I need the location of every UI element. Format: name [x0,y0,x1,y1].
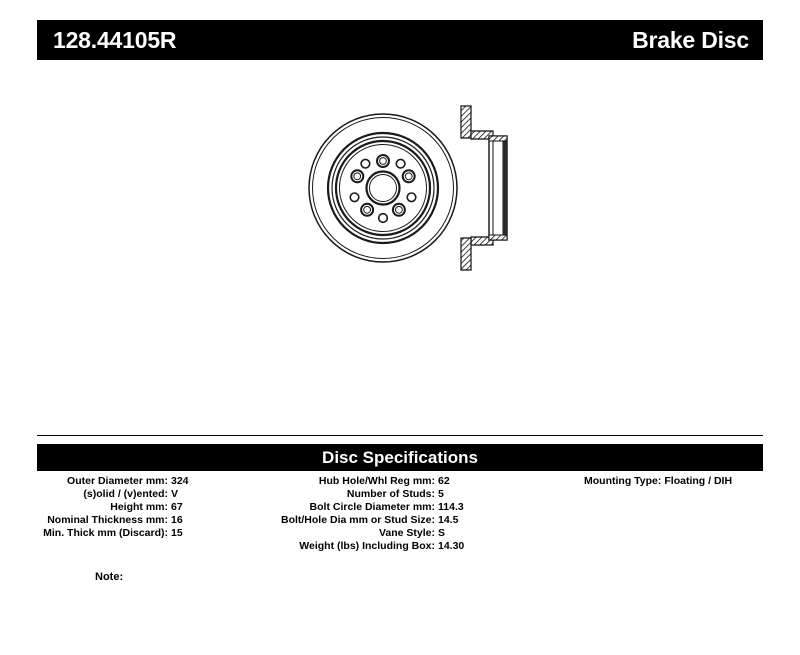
pilot-hole [379,214,388,223]
stud-hole [351,170,363,182]
pilot-hole [361,159,370,168]
spec-row-solid-vented: (s)olid / (v)ented:V [0,488,200,501]
spec-value: 14.30 [435,540,464,553]
spec-label: Height mm: [0,501,168,514]
spec-row-min-thickness-discard: Min. Thick mm (Discard):15 [0,527,200,540]
product-drawing [250,95,550,295]
spec-value: 15 [168,527,183,540]
rotor-friction-ring-inner [332,137,434,239]
specifications-divider-rule [37,435,763,436]
part-number: 128.44105R [53,29,176,52]
header-bar: 128.44105R Brake Disc [37,20,763,60]
spec-label: Nominal Thickness mm: [0,514,168,527]
spec-row-vane-style: Vane Style:S [250,527,510,540]
note-block: Note: [95,570,127,584]
stud-hole [377,155,389,167]
disc-outer-surface-edge [503,136,507,240]
note-value [123,571,127,583]
disc-body-cap-top [489,136,507,141]
spec-value: 5 [435,488,444,501]
spec-row-outer-diameter: Outer Diameter mm:324 [0,475,200,488]
brake-disc-technical-illustration [250,95,550,295]
specifications-column-middle: Hub Hole/Whl Reg mm:62 Number of Studs:5… [250,475,510,553]
spec-label: Bolt/Hole Dia mm or Stud Size: [250,514,435,527]
spec-value: 114.3 [435,501,464,514]
spec-value: 62 [435,475,450,488]
rotor-side-section-view [461,106,507,270]
spec-value: 16 [168,514,183,527]
rotor-outer-edge-circle [309,114,457,262]
spec-value: V [168,488,178,501]
spec-label: Hub Hole/Whl Reg mm: [250,475,435,488]
stud-hole-inner [405,173,412,180]
spec-value: 14.5 [435,514,458,527]
spec-row-number-of-studs: Number of Studs:5 [250,488,510,501]
stud-hole-inner [380,158,387,165]
spec-row-bolt-hole-dia-stud-size: Bolt/Hole Dia mm or Stud Size:14.5 [250,514,510,527]
spec-value: S [435,527,445,540]
spec-label: Min. Thick mm (Discard): [0,527,168,540]
spec-row-nominal-thickness: Nominal Thickness mm:16 [0,514,200,527]
pilot-hole [396,159,405,168]
stud-hole-inner [354,173,361,180]
rotor-front-view [309,114,457,262]
stud-hole-inner [364,206,371,213]
hat-flange-upper [461,106,471,138]
pilot-hole [350,193,359,202]
hub-bore-inner-circle [370,175,397,202]
spec-value: 67 [168,501,183,514]
hub-bore-circle [367,172,400,205]
specifications-header-title: Disc Specifications [322,449,478,466]
specifications-column-left: Outer Diameter mm:324 (s)olid / (v)ented… [0,475,200,540]
specifications-column-right: Mounting Type:Floating / DIH [584,475,794,488]
spec-label: Bolt Circle Diameter mm: [250,501,435,514]
spec-value: 324 [168,475,189,488]
spec-row-weight-including-box: Weight (lbs) Including Box:14.30 [250,540,510,553]
pilot-hole [407,193,416,202]
stud-hole [403,170,415,182]
spec-label: Mounting Type: [584,475,661,488]
pilot-hole-group [350,159,416,222]
stud-hole [393,204,405,216]
stud-hole [361,204,373,216]
disc-body-cap-bottom [489,235,507,240]
hat-flange-lower [461,238,471,270]
rotor-friction-ring-outer [328,133,438,243]
spec-label: Outer Diameter mm: [0,475,168,488]
page-title: Brake Disc [632,29,749,52]
spec-row-mounting-type: Mounting Type:Floating / DIH [584,475,794,488]
spec-value: Floating / DIH [661,475,732,488]
spec-label: (s)olid / (v)ented: [0,488,168,501]
spec-label: Vane Style: [250,527,435,540]
specifications-header-bar: Disc Specifications [37,444,763,471]
spec-label: Weight (lbs) Including Box: [250,540,435,553]
spec-row-bolt-circle-diameter: Bolt Circle Diameter mm:114.3 [250,501,510,514]
spec-row-hub-hole-wheel-reg: Hub Hole/Whl Reg mm:62 [250,475,510,488]
spec-label: Number of Studs: [250,488,435,501]
spec-row-height: Height mm:67 [0,501,200,514]
rotor-outer-edge-inner-circle [313,118,454,259]
note-label: Note: [95,571,123,583]
stud-hole-inner [396,206,403,213]
